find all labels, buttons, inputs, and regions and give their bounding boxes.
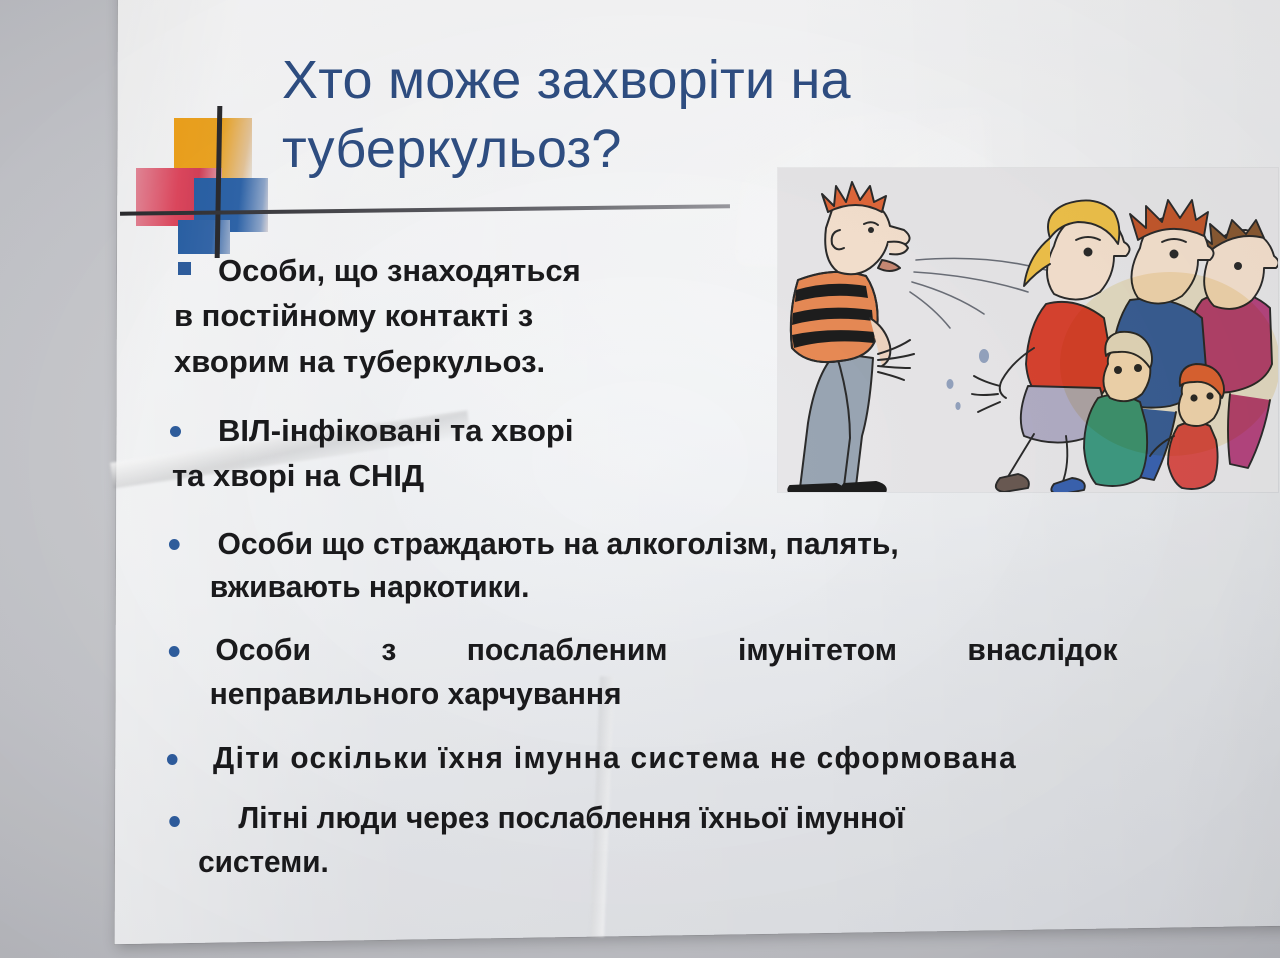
bullet-5-line-1: Діти оскільки їхня імунна система не сфо… xyxy=(213,736,1265,780)
bullet-marker-square xyxy=(178,262,191,275)
bullet-item-6: Літні люди через послаблення їхньої імун… xyxy=(200,796,1179,884)
bullet-2-line-2: та хворі на СНІД xyxy=(172,453,716,498)
bullet-marker-dot xyxy=(170,426,181,437)
photo-of-printed-poster: Хто може захворіти на туберкульоз? xyxy=(0,0,1280,958)
bullet-3-line-1: Особи що страждають на алкоголізм, палят… xyxy=(217,522,1150,565)
bullet-item-1: Особи, що знаходяться в постійному конта… xyxy=(218,248,718,384)
bullet-1-line-2: в постійному контакті з xyxy=(174,293,718,338)
bullet-4-line-1: Особи з послабленим імунітетом внаслідок xyxy=(215,628,1117,672)
bullet-2-line-1: ВІЛ-інфіковані та хворі xyxy=(218,408,716,453)
bullet-marker-dot xyxy=(167,754,178,765)
illustration-svg xyxy=(778,168,1278,492)
bullet-item-4: Особи з послабленим імунітетом внаслідок… xyxy=(196,628,1147,716)
bullet-4-line-2: неправильного харчування xyxy=(210,672,1147,716)
bullet-item-2: ВІЛ-інфіковані та хворі та хворі на СНІД xyxy=(196,408,716,499)
bullet-1-line-1: Особи, що знаходяться xyxy=(218,248,718,293)
bullet-3-line-2: вживають наркотики. xyxy=(210,565,1151,608)
page-title-line-1: Хто може захворіти на xyxy=(282,50,851,110)
poster-content: Хто може захворіти на туберкульоз? xyxy=(0,0,1280,958)
bullet-marker-dot xyxy=(169,816,180,827)
bullet-1-line-3: хворим на туберкульоз. xyxy=(174,339,718,384)
bullet-6-line-2: системи. xyxy=(198,840,1179,884)
bullet-marker-dot xyxy=(169,646,180,657)
bullet-marker-dot xyxy=(169,539,180,550)
page-title: Хто може захворіти на туберкульоз? xyxy=(282,46,1042,184)
illustration-coughing-man-and-crowd xyxy=(778,168,1278,492)
bullet-6-line-1: Літні люди через послаблення їхньої імун… xyxy=(238,796,1179,840)
bullet-item-5: Діти оскільки їхня імунна система не сфо… xyxy=(190,736,1265,780)
decorative-squares-logo xyxy=(138,112,288,254)
bullet-item-3: Особи що страждають на алкоголізм, палят… xyxy=(200,522,1151,609)
